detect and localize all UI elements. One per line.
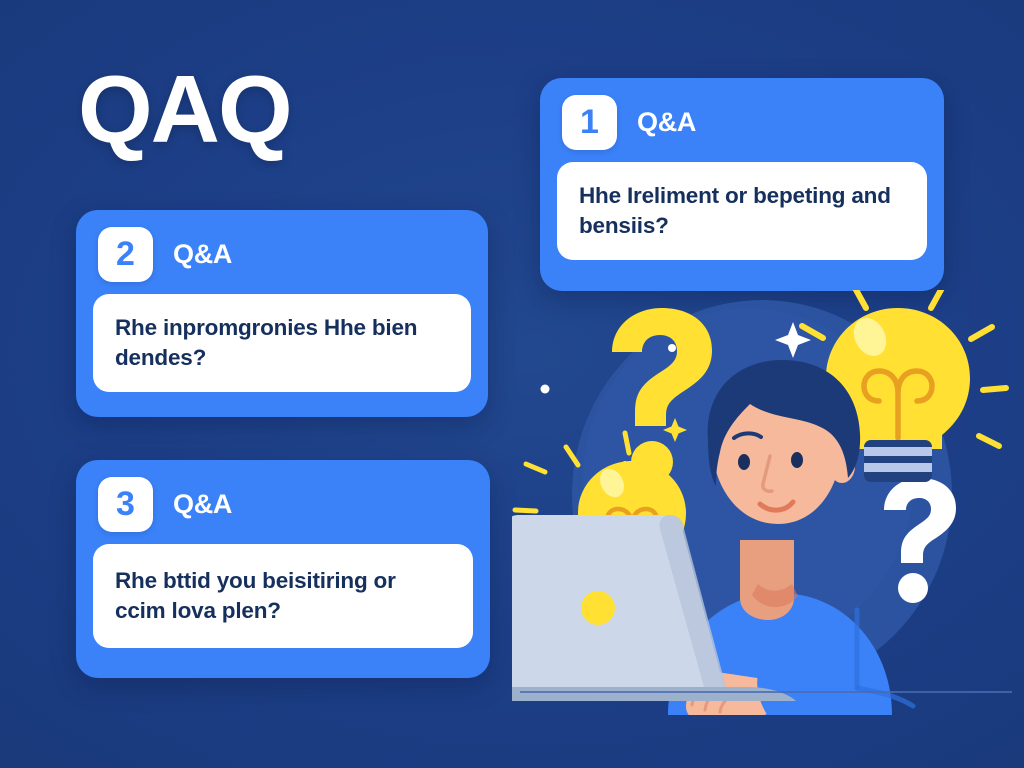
illustration-person-at-laptop	[512, 290, 1024, 715]
qa-card-2-header: 2 Q&A	[93, 226, 471, 282]
qa-card-1-body: Hhe Ireliment or bepeting and bensiis?	[557, 162, 927, 260]
qa-card-3-number-badge: 3	[98, 477, 153, 532]
qa-card-1-number-badge: 1	[562, 95, 617, 150]
qa-card-2-label: Q&A	[173, 239, 232, 270]
qa-card-3[interactable]: 3 Q&A Rhe bttid you beisitiring or ccim …	[76, 460, 490, 678]
qa-card-2[interactable]: 2 Q&A Rhe inpromgronies Hhe bien dendes?	[76, 210, 488, 417]
person-eye-right	[791, 452, 803, 468]
qa-card-1[interactable]: 1 Q&A Hhe Ireliment or bepeting and bens…	[540, 78, 944, 291]
bulb-base-large	[864, 440, 932, 482]
qa-card-1-question: Hhe Ireliment or bepeting and bensiis?	[579, 181, 905, 241]
qa-card-1-label: Q&A	[637, 107, 696, 138]
person-eye-left	[738, 454, 750, 470]
qa-card-3-body: Rhe bttid you beisitiring or ccim lova p…	[93, 544, 473, 648]
qa-card-3-question: Rhe bttid you beisitiring or ccim lova p…	[115, 566, 451, 626]
qa-card-3-header: 3 Q&A	[93, 476, 473, 532]
page-title: QAQ	[78, 62, 291, 158]
qa-card-1-header: 1 Q&A	[557, 94, 927, 150]
qa-card-3-label: Q&A	[173, 489, 232, 520]
laptop-base	[512, 687, 796, 701]
qa-card-2-question: Rhe inpromgronies Hhe bien dendes?	[115, 313, 449, 373]
laptop-logo	[581, 591, 615, 625]
qa-card-2-body: Rhe inpromgronies Hhe bien dendes?	[93, 294, 471, 392]
poster-canvas: QAQ 1 Q&A Hhe Ireliment or bepeting and …	[0, 0, 1024, 768]
qa-card-2-number-badge: 2	[98, 227, 153, 282]
